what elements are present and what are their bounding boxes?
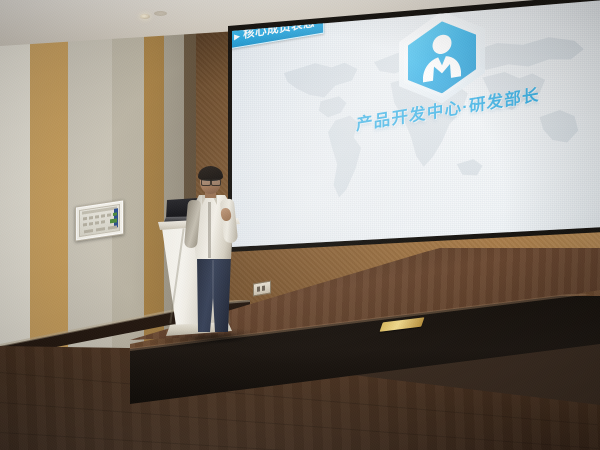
presenter-shirt-placket xyxy=(208,202,211,258)
control-panel-button[interactable] xyxy=(101,214,105,218)
presenter-trousers xyxy=(195,256,233,332)
slide-content: 核心成员表态 产品开发中心·研发部长 xyxy=(220,0,600,270)
control-panel-button[interactable] xyxy=(89,216,93,220)
control-panel-button[interactable] xyxy=(108,225,117,229)
wall-panel-stripe xyxy=(30,26,68,356)
control-panel-button[interactable] xyxy=(95,221,99,225)
control-panel-button[interactable] xyxy=(95,215,99,219)
wall-control-panel[interactable] xyxy=(75,199,124,241)
presenter-trouser-seam xyxy=(212,260,214,320)
control-panel-button[interactable] xyxy=(96,227,105,231)
projection-screen: 核心成员表态 产品开发中心·研发部长 xyxy=(220,0,600,270)
arrow-right-icon xyxy=(234,33,240,40)
control-panel-status-led xyxy=(113,212,117,216)
control-panel-button[interactable] xyxy=(83,223,87,227)
control-panel-button[interactable] xyxy=(101,220,105,224)
control-panel-button[interactable] xyxy=(84,229,93,233)
control-panel-button[interactable] xyxy=(107,213,111,217)
wall-panel-stripe xyxy=(68,26,116,356)
recessed-downlight-icon xyxy=(154,11,167,16)
recessed-downlight-icon xyxy=(140,14,150,19)
control-panel-button[interactable] xyxy=(83,217,87,221)
conference-photo: 核心成员表态 产品开发中心·研发部长 xyxy=(0,0,600,450)
wall-panel-stripe xyxy=(112,26,146,356)
businessperson-icon xyxy=(408,16,476,99)
presenter-figure xyxy=(186,168,250,338)
control-panel-button[interactable] xyxy=(89,222,93,226)
glasses-icon xyxy=(201,178,221,184)
control-panel-display xyxy=(82,206,117,214)
control-panel-face xyxy=(79,204,120,237)
